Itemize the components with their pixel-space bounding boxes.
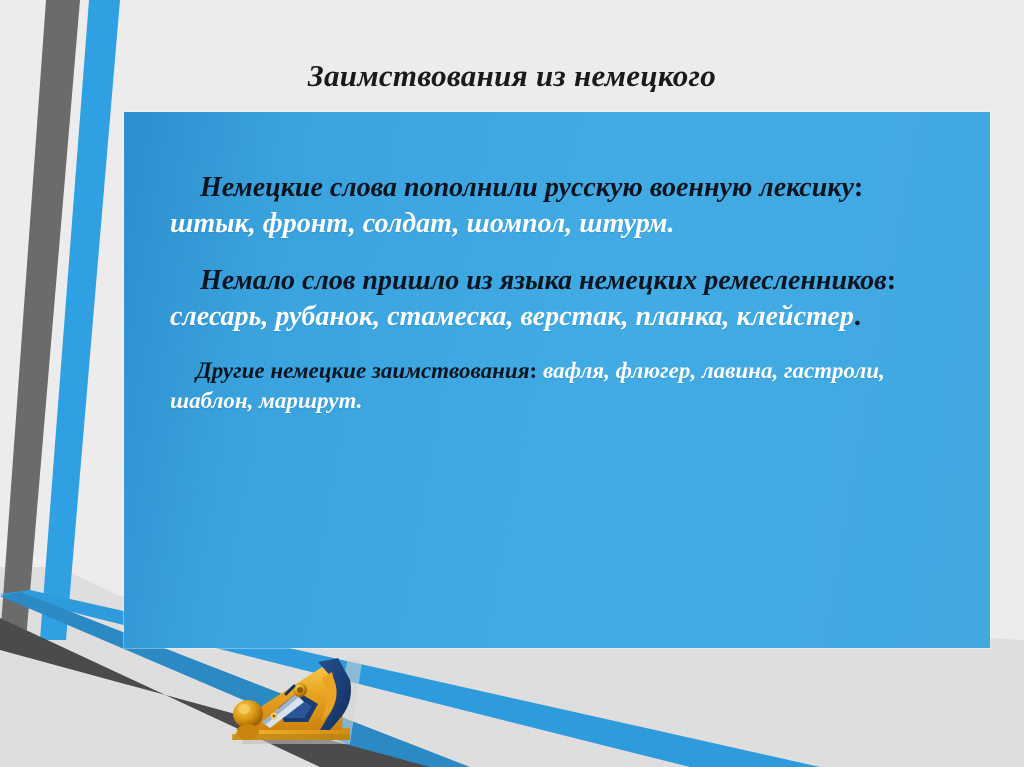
- paragraph-craftsmen-separator: :: [887, 265, 896, 296]
- paragraph-craftsmen-trailing: .: [854, 301, 861, 332]
- paragraph-craftsmen-lead: Немало слов пришло из языка немецких рем…: [200, 265, 887, 296]
- hand-plane-icon: [222, 644, 402, 762]
- slide-title: Заимствования из немецкого: [0, 58, 1024, 94]
- paragraph-other-lead: Другие немецкие заимствования: [196, 358, 530, 383]
- paragraph-military-words: штык, фронт, солдат, шомпол, штурм.: [170, 208, 675, 239]
- paragraph-military: Немецкие слова пополнили русскую военную…: [170, 170, 954, 243]
- paragraph-military-separator: :: [854, 172, 863, 203]
- paragraph-other-separator: :: [530, 358, 543, 383]
- content-panel: Немецкие слова пополнили русскую военную…: [124, 112, 990, 648]
- paragraph-craftsmen-words: слесарь, рубанок, стамеска, верстак, пла…: [170, 301, 854, 332]
- paragraph-military-lead: Немецкие слова пополнили русскую военную…: [200, 172, 854, 203]
- paragraph-craftsmen: Немало слов пришло из языка немецких рем…: [170, 263, 954, 336]
- paragraph-other: Другие немецкие заимствования: вафля, фл…: [170, 356, 954, 417]
- slide-canvas: Заимствования из немецкого Немецкие слов…: [0, 0, 1024, 767]
